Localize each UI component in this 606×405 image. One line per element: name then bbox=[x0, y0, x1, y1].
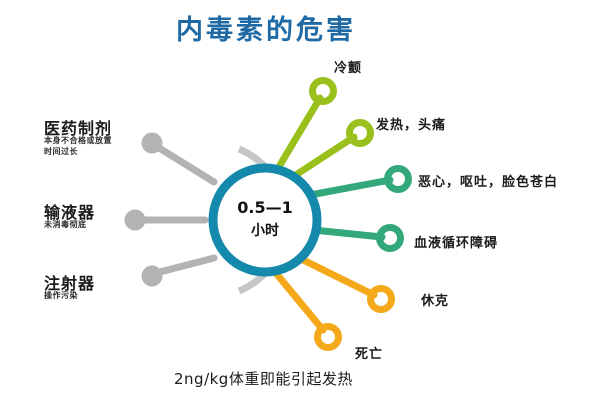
source-sublabel-2: 操作污染 bbox=[44, 290, 78, 301]
center-duration-unit: 小时 bbox=[215, 220, 315, 240]
symptom-spoke-4 bbox=[289, 253, 392, 310]
symptom-label-5: 死亡 bbox=[355, 343, 383, 362]
symptom-label-1: 发热，头痛 bbox=[376, 114, 446, 133]
symptom-label-4: 休克 bbox=[421, 290, 449, 309]
symptom-label-2: 恶心，呕吐，脸色苍白 bbox=[418, 171, 558, 190]
symptom-spoke-5 bbox=[275, 272, 339, 348]
source-sublabel-0: 本身不合格或放置 时间过长 bbox=[44, 135, 112, 157]
infographic-page: 内毒素的危害 0.5—1 小时 医药制剂 本身不合格或放置 时间过长 输液器 未… bbox=[0, 0, 606, 405]
symptom-label-3: 血液循环障碍 bbox=[414, 232, 498, 251]
page-title: 内毒素的危害 bbox=[176, 8, 356, 47]
symptom-label-0: 冷颤 bbox=[334, 57, 362, 76]
source-spoke-2 bbox=[142, 258, 215, 287]
footnote-text: 2ng/kg体重即能引起发热 bbox=[174, 368, 353, 389]
source-spoke-1 bbox=[125, 210, 206, 231]
source-sublabel-1: 未消毒彻底 bbox=[44, 219, 87, 230]
source-spoke-0 bbox=[142, 133, 215, 183]
center-duration-value: 0.5—1 bbox=[215, 198, 315, 217]
